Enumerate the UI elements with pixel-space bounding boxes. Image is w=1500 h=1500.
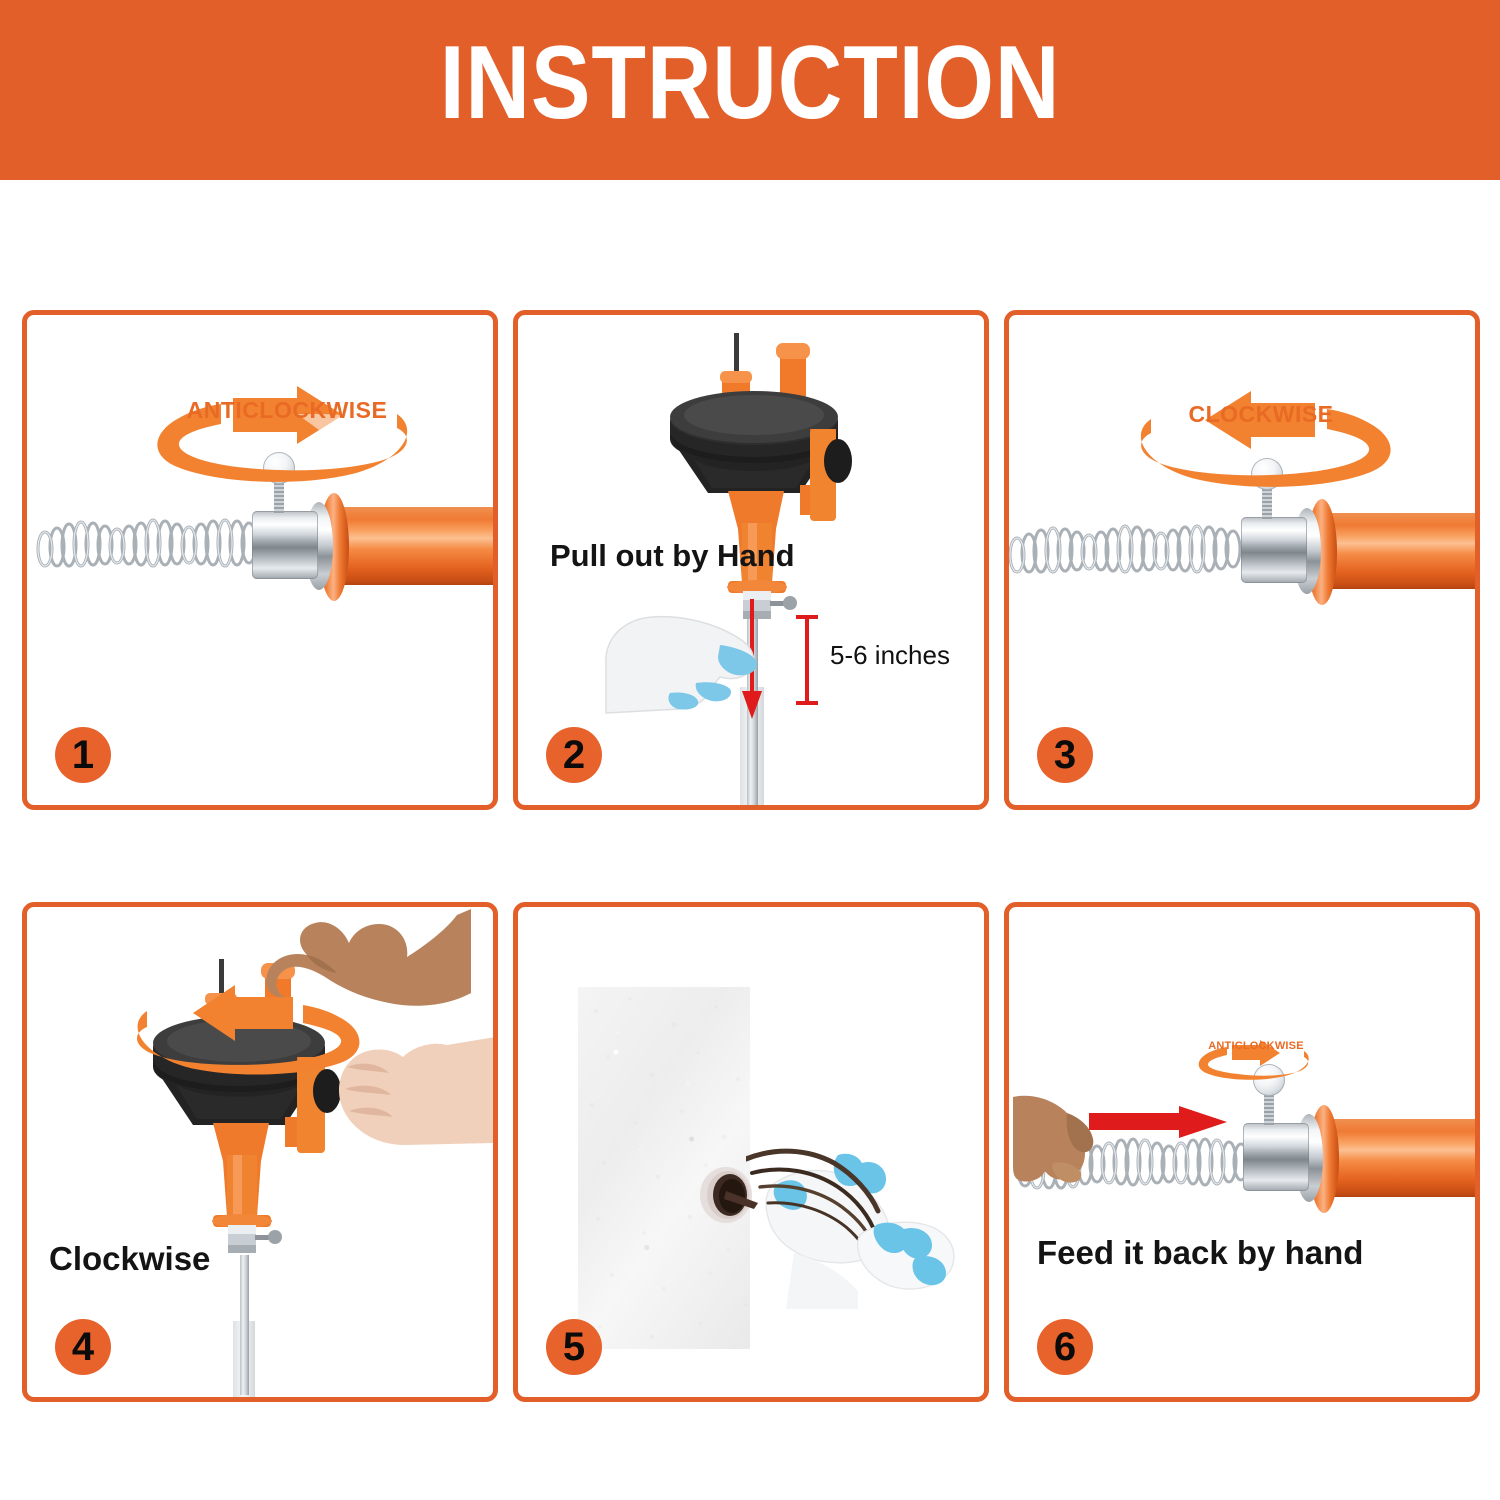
orange-drum-tube-icon bbox=[1327, 1119, 1479, 1197]
rotation-ring-arrow-icon bbox=[147, 370, 427, 490]
step-number-badge: 4 bbox=[55, 1319, 111, 1375]
step-number-badge: 1 bbox=[55, 727, 111, 783]
debris-icon bbox=[746, 1125, 960, 1309]
dimension-bracket-icon bbox=[796, 615, 818, 705]
step-number-badge: 3 bbox=[1037, 727, 1093, 783]
page-title: INSTRUCTION bbox=[105, 0, 1395, 180]
rotation-label: ANTICLOCKWISE bbox=[147, 397, 427, 424]
step-number-badge: 2 bbox=[546, 727, 602, 783]
rotation-label: ANTICLOCKWISE bbox=[1194, 1040, 1318, 1052]
rotation-label: CLOCKWISE bbox=[1121, 401, 1401, 428]
gloved-hand-icon bbox=[600, 595, 800, 715]
orange-drum-tube-icon bbox=[1325, 513, 1479, 589]
grip-hand-icon bbox=[317, 1027, 497, 1157]
steps-grid: ANTICLOCKWISE bbox=[22, 310, 1480, 1415]
step-number-badge: 6 bbox=[1037, 1319, 1093, 1375]
step-caption: Feed it back by hand bbox=[1037, 1232, 1363, 1273]
step-number-badge: 5 bbox=[546, 1319, 602, 1375]
instruction-infographic: INSTRUCTION ANTICLOCKWISE bbox=[0, 0, 1500, 1500]
step-panel-6: ANTICLOCKWISE bbox=[1004, 902, 1480, 1402]
auger-cable-rod-icon bbox=[240, 1255, 249, 1395]
step-panel-5: 5 bbox=[513, 902, 989, 1402]
step-caption-line-1: Clockwise bbox=[49, 1228, 210, 1291]
orange-drum-tube-icon bbox=[337, 507, 497, 585]
rotation-ring-arrow-icon bbox=[1121, 375, 1401, 495]
step-panel-1: ANTICLOCKWISE bbox=[22, 310, 498, 810]
red-right-arrow-icon bbox=[1089, 1105, 1229, 1139]
step-panel-2: Pull out by Hand bbox=[513, 310, 989, 810]
step-caption: Pull out by Hand bbox=[550, 537, 795, 576]
dimension-label: 5-6 inches bbox=[830, 640, 950, 671]
collet-icon bbox=[1241, 517, 1307, 583]
step-panel-4: Clockwise Turning bbox=[22, 902, 498, 1402]
drum-auger-machine-icon bbox=[650, 333, 880, 633]
bare-hand-icon bbox=[1013, 1091, 1109, 1201]
bare-hand-icon bbox=[259, 909, 473, 1027]
collet-icon bbox=[252, 511, 318, 579]
collet-icon bbox=[1243, 1123, 1309, 1191]
header-banner: INSTRUCTION bbox=[0, 0, 1500, 180]
step-panel-3: CLOCKWISE bbox=[1004, 310, 1480, 810]
